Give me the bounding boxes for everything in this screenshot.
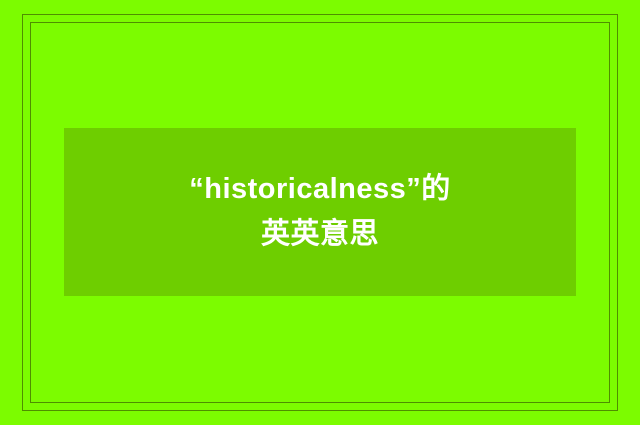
page-title: “historicalness”的英英意思 <box>175 167 465 257</box>
text-panel: “historicalness”的英英意思 <box>64 128 576 296</box>
image-canvas: “historicalness”的英英意思 <box>0 0 640 425</box>
